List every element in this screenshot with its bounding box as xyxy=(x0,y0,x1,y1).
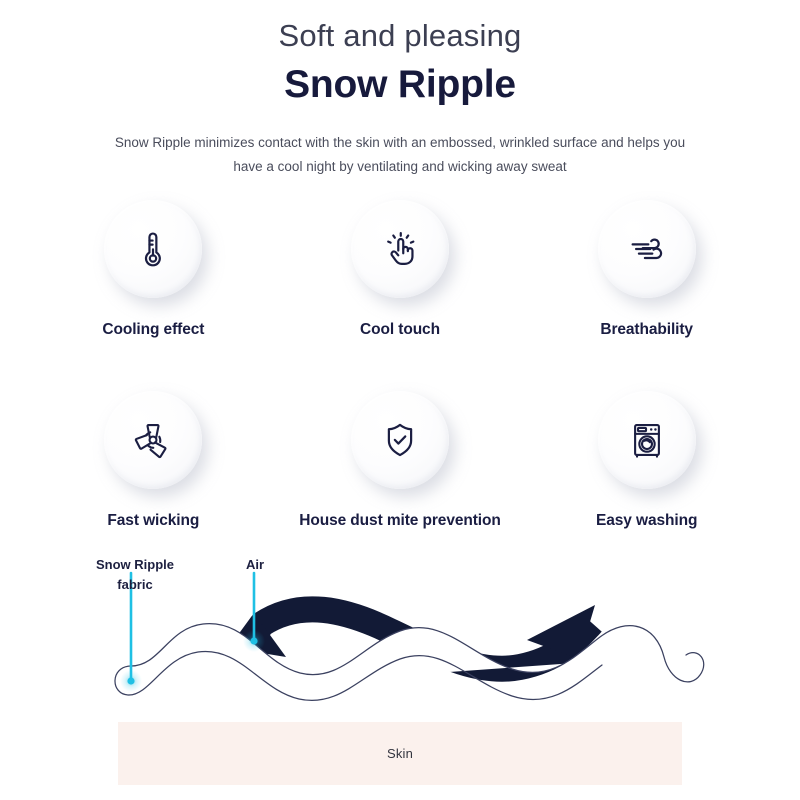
page-header: Soft and pleasing Snow Ripple xyxy=(0,18,800,108)
feature-label: Cooling effect xyxy=(102,321,204,339)
callout-label-fabric: Snow Ripple fabric xyxy=(70,555,200,595)
feature-label: Easy washing xyxy=(596,512,697,530)
feature-label: Fast wicking xyxy=(107,512,199,530)
airflow-diagram: Snow Ripple fabric Air xyxy=(0,545,800,720)
feature-item-cooling-effect: Cooling effect xyxy=(30,200,277,339)
skin-band: Skin xyxy=(118,722,682,785)
shield-check-icon xyxy=(377,417,423,463)
feature-label: Breathability xyxy=(600,321,693,339)
feature-icon-badge xyxy=(104,391,202,489)
feature-icon-badge xyxy=(351,391,449,489)
feature-icon-badge xyxy=(104,200,202,298)
feature-grid: Cooling effect Cool touch xyxy=(30,200,770,530)
washing-machine-icon xyxy=(624,417,670,463)
page-description: Snow Ripple minimizes contact with the s… xyxy=(100,131,700,178)
skin-band-label: Skin xyxy=(387,746,413,761)
feature-icon-badge xyxy=(351,200,449,298)
thermometer-icon xyxy=(130,226,176,272)
feature-icon-badge xyxy=(598,200,696,298)
feature-label: Cool touch xyxy=(360,321,440,339)
feature-label: House dust mite prevention xyxy=(299,512,501,530)
feature-icon-badge xyxy=(598,391,696,489)
feature-item-cool-touch: Cool touch xyxy=(277,200,524,339)
callout-label-air: Air xyxy=(200,555,310,575)
page-eyebrow: Soft and pleasing xyxy=(0,18,800,54)
fan-rotor-icon xyxy=(130,417,176,463)
page-title: Snow Ripple xyxy=(0,62,800,109)
feature-item-dust-mite-prevention: House dust mite prevention xyxy=(277,391,524,530)
tap-hand-icon xyxy=(377,226,423,272)
wind-icon xyxy=(624,226,670,272)
feature-item-breathability: Breathability xyxy=(523,200,770,339)
product-feature-page: Soft and pleasing Snow Ripple Snow Rippl… xyxy=(0,0,800,800)
feature-item-easy-washing: Easy washing xyxy=(523,391,770,530)
feature-item-fast-wicking: Fast wicking xyxy=(30,391,277,530)
fabric-ribbon xyxy=(115,624,704,701)
